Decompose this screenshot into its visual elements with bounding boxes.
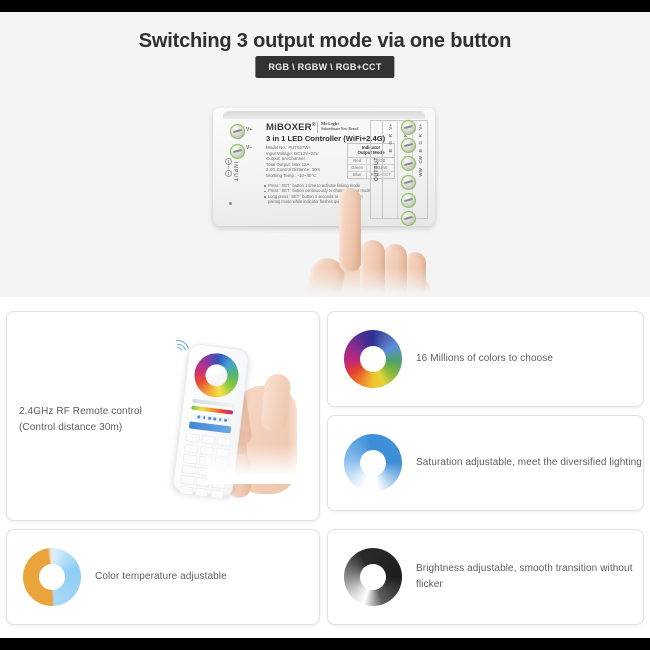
output-pin-label: G — [418, 141, 423, 145]
hand-pressing-set-button — [267, 196, 437, 297]
cell-indicator: Red — [348, 158, 367, 164]
output-pin-label: B — [388, 149, 393, 152]
registered-mark-icon: ® — [312, 122, 316, 128]
output-pin-label: V+ — [388, 124, 393, 130]
device-spec-list: Model No.: FUT037W+ Input Voltage: DC12V… — [266, 145, 342, 179]
brightness-ring-icon — [344, 548, 402, 606]
brand-sub-line2: Subordinate New Brand — [321, 127, 358, 131]
input-label: INPUT — [232, 162, 238, 182]
edge-fade-overlay — [287, 334, 317, 514]
letterbox-bar-top — [0, 0, 650, 12]
saturation-card-text: Saturation adjustable, meet the diversif… — [416, 455, 642, 471]
card-16-million-colors: 16 Millions of colors to choose — [327, 311, 644, 407]
hand-fade-overlay — [267, 268, 437, 297]
output-mode-badge: RGB \ RGBW \ RGB+CCT — [255, 56, 394, 78]
hero-section: Switching 3 output mode via one button R… — [0, 12, 650, 297]
color-wheel-icon — [344, 330, 402, 388]
colors-card-text: 16 Millions of colors to choose — [416, 351, 553, 367]
device-model-title: 3 in 1 LED Controller (WiFi+2.4G) — [266, 134, 385, 143]
cell-indicator: Green — [348, 165, 367, 171]
index-finger — [339, 188, 361, 272]
letterbox-bar-bottom — [0, 638, 650, 650]
card-brightness-adjustable: Brightness adjustable, smooth transition… — [327, 529, 644, 625]
screw-terminal-icon — [401, 156, 416, 171]
output-pin-label: R — [418, 134, 423, 137]
output-pin-label: R — [388, 134, 393, 137]
saturation-ring-icon — [344, 434, 402, 492]
led-controller-image: MiBOXER® Mi-Light Subordinate New Brand … — [207, 100, 445, 297]
screw-terminal-icon — [230, 144, 245, 159]
brand-name: MiBOXER — [266, 122, 312, 133]
brand-divider — [317, 122, 318, 133]
brand-logo: MiBOXER® — [266, 122, 316, 133]
color-temperature-card-text: Color temperature adjustable — [95, 569, 227, 585]
status-led-icon — [229, 202, 232, 205]
screw-terminal-icon — [230, 124, 245, 139]
page-title: Switching 3 output mode via one button — [0, 30, 650, 53]
screw-terminal-icon — [401, 138, 416, 153]
rf-signal-icon — [167, 340, 193, 366]
color-wheel-icon — [192, 351, 241, 400]
remote-card-line2: (Control distance 30m) — [19, 420, 174, 436]
cell-indicator: Blue — [348, 172, 367, 178]
screw-terminal-icon — [401, 175, 416, 190]
card-remote-control: 2.4GHz RF Remote control (Control distan… — [6, 311, 320, 521]
output-label: OUTPUT — [374, 157, 380, 181]
card-saturation-adjustable: Saturation adjustable, meet the diversif… — [327, 415, 644, 511]
feature-cards-section: 2.4GHz RF Remote control (Control distan… — [0, 297, 650, 638]
mode-bar — [189, 421, 232, 433]
output-pin-label: V+ — [418, 124, 423, 130]
remote-control-image — [167, 334, 315, 504]
spec-item: Working Temp.: -10~40°C — [266, 173, 342, 179]
color-temperature-ring-icon — [23, 548, 81, 606]
screw-terminal-icon — [401, 120, 416, 135]
remote-card-line1: 2.4GHz RF Remote control — [19, 404, 174, 420]
brightness-card-text: Brightness adjustable, smooth transition… — [416, 561, 643, 593]
output-pin-label: CW — [418, 156, 423, 164]
output-pin-label: B — [418, 149, 423, 152]
remote-card-text: 2.4GHz RF Remote control (Control distan… — [19, 404, 174, 436]
brand-sub-line1: Mi-Light — [321, 121, 339, 126]
output-pin-label: WW — [418, 168, 423, 177]
card-color-temperature: Color temperature adjustable — [6, 529, 320, 625]
input-terminal-label: V+ — [246, 127, 252, 133]
page-root: Switching 3 output mode via one button R… — [0, 0, 650, 650]
input-terminal-label: V− — [246, 145, 252, 151]
output-pin-label: G — [388, 141, 393, 145]
